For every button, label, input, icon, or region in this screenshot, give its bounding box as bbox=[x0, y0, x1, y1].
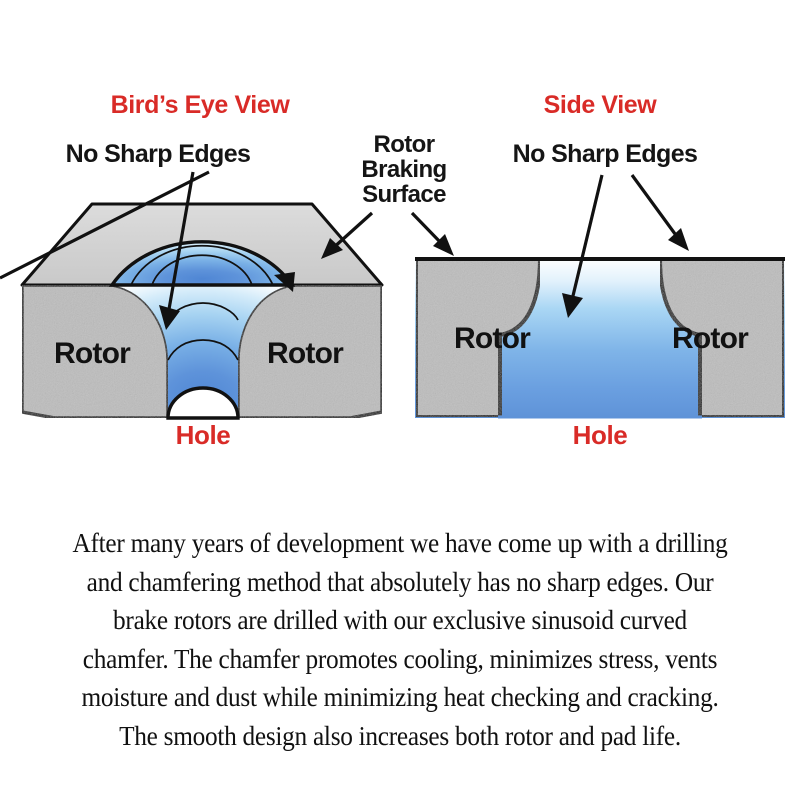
braking-surface-arrow-right-line bbox=[412, 213, 443, 245]
caption-line: The smooth design also increases both ro… bbox=[39, 717, 760, 756]
caption-line: After many years of development we have … bbox=[39, 524, 760, 563]
caption-paragraph: After many years of development we have … bbox=[0, 524, 800, 800]
diagram-page: Bird’s Eye View No Sharp Edges bbox=[0, 0, 800, 800]
side-view-title: Side View bbox=[544, 91, 658, 119]
left-rotor-label-left: Rotor bbox=[54, 337, 131, 370]
caption-line: and chamfering method that absolutely ha… bbox=[39, 563, 760, 602]
right-hole-label: Hole bbox=[573, 420, 628, 450]
caption-line: brake rotors are drilled with our exclus… bbox=[39, 601, 760, 640]
left-no-sharp-edges-label: No Sharp Edges bbox=[66, 140, 251, 168]
side-view-group: Side View No Sharp Edges Rotor Rotor Hol bbox=[415, 91, 785, 450]
caption-line: chamfer. The chamfer promotes cooling, m… bbox=[39, 640, 760, 679]
left-rotor-label-right: Rotor bbox=[267, 337, 344, 370]
caption-line: moisture and dust while minimizing heat … bbox=[39, 678, 760, 717]
braking-surface-line-1: Rotor bbox=[374, 131, 435, 158]
rotor-braking-surface-callout: Rotor Braking Surface bbox=[321, 131, 454, 259]
braking-surface-line-2: Braking bbox=[361, 156, 446, 183]
right-arrow-2-head bbox=[668, 228, 689, 251]
birds-eye-view-title: Bird’s Eye View bbox=[111, 91, 291, 119]
left-hole-label: Hole bbox=[176, 420, 231, 450]
right-rotor-label-right: Rotor bbox=[672, 322, 749, 355]
birds-eye-view-group: Bird’s Eye View No Sharp Edges bbox=[0, 91, 382, 450]
braking-surface-arrow-left-line bbox=[332, 213, 372, 249]
braking-surface-line-3: Surface bbox=[362, 181, 446, 208]
rotor-chamfer-diagram: Bird’s Eye View No Sharp Edges bbox=[0, 0, 800, 520]
right-rotor-label-left: Rotor bbox=[454, 322, 531, 355]
right-arrow-2-line bbox=[632, 175, 678, 238]
right-no-sharp-edges-label: No Sharp Edges bbox=[513, 140, 698, 168]
rotor-block-3d: Rotor Rotor bbox=[22, 204, 382, 418]
